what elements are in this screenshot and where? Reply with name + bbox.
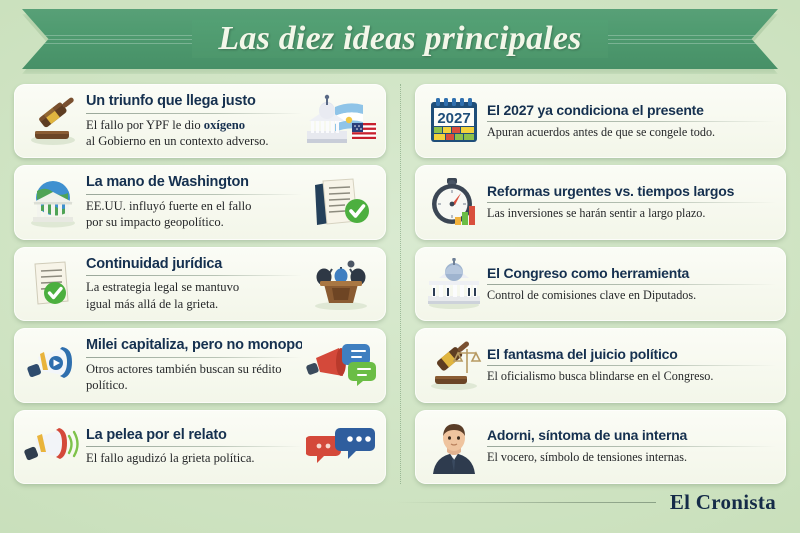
idea-card[interactable]: El Congreso como herramienta Control de … <box>415 247 786 321</box>
gavel-scales-icon <box>423 339 485 391</box>
headline-rule <box>86 357 302 358</box>
blurb-text-line2: por su impacto geopolítico. <box>86 215 224 229</box>
card-headline: Adorni, síntoma de una interna <box>487 427 776 443</box>
idea-card[interactable]: Adorni, síntoma de una interna El vocero… <box>415 410 786 484</box>
headline-rule <box>487 365 776 366</box>
left-column: Un triunfo que llega justo El fallo por … <box>0 84 400 484</box>
blurb-text: Las inversiones se harán sentir a largo … <box>487 206 705 220</box>
card-headline: El 2027 ya condiciona el presente <box>487 102 776 118</box>
card-body: El fantasma del juicio político El ofici… <box>485 346 778 385</box>
card-body: El Congreso como herramienta Control de … <box>485 265 778 304</box>
idea-card[interactable]: La pelea por el relato El fallo agudizó … <box>14 410 386 484</box>
headline-rule <box>86 446 302 447</box>
blurb-text: Apuran acuerdos antes de que se congele … <box>487 125 715 139</box>
headline-rule <box>487 202 776 203</box>
blurb-text: El oficialismo busca blindarse en el Con… <box>487 369 713 383</box>
blurb-text: Control de comisiones clave en Diputados… <box>487 288 696 302</box>
card-blurb: El oficialismo busca blindarse en el Con… <box>487 369 776 385</box>
idea-card[interactable]: Continuidad jurídica La estrategia legal… <box>14 247 386 321</box>
footer-divider <box>396 502 656 503</box>
calendar-year-label: 2027 <box>437 110 470 127</box>
title-ribbon: Las diez ideas principales <box>0 9 800 71</box>
card-headline: Un triunfo que llega justo <box>86 93 302 110</box>
idea-card[interactable]: 2027 El 2027 ya <box>415 84 786 158</box>
card-blurb: EE.UU. influyó fuerte en el fallo por su… <box>86 198 302 231</box>
card-headline: Milei capitaliza, pero no monopoliza <box>86 337 302 354</box>
infographic-poster: Las diez ideas principales <box>0 0 800 533</box>
blurb-text: La estrategia legal se mantuvo <box>86 280 239 294</box>
megaphone-chat-bubbles-icon <box>304 342 378 388</box>
blurb-text: El fallo por YPF le dio <box>86 118 204 132</box>
megaphone-red-icon <box>22 424 84 470</box>
brand-logo: El Cronista <box>670 490 776 515</box>
card-body: Adorni, síntoma de una interna El vocero… <box>485 427 778 466</box>
card-headline: La pelea por el relato <box>86 427 302 444</box>
blurb-text: Otros actores también buscan su rédito p… <box>86 362 282 392</box>
card-blurb: Apuran acuerdos antes de que se congele … <box>487 125 776 141</box>
card-headline: Reformas urgentes vs. tiempos largos <box>487 183 776 199</box>
card-body: Un triunfo que llega justo El fallo por … <box>84 93 304 149</box>
cards-area: Un triunfo que llega justo El fallo por … <box>0 84 800 484</box>
card-headline: La mano de Washington <box>86 174 302 191</box>
headline-rule <box>487 446 776 447</box>
card-blurb: Control de comisiones clave en Diputados… <box>487 288 776 304</box>
stopwatch-chart-icon <box>423 176 485 230</box>
headline-rule <box>86 275 302 276</box>
card-headline: Continuidad jurídica <box>86 256 302 273</box>
globe-bank-icon <box>22 177 84 229</box>
card-body: El 2027 ya condiciona el presente Apuran… <box>485 102 778 141</box>
card-body: La mano de Washington EE.UU. influyó fue… <box>84 174 304 230</box>
blurb-text: EE.UU. influyó fuerte en el fallo <box>86 199 251 213</box>
headline-rule <box>86 113 302 114</box>
calendar-2027-icon: 2027 <box>423 94 485 148</box>
headline-rule <box>86 194 302 195</box>
capitol-flags-icon <box>304 93 378 149</box>
card-blurb: El fallo por YPF le dio oxígeno al Gobie… <box>86 117 302 150</box>
congress-building-icon <box>423 258 485 310</box>
idea-card[interactable]: La mano de Washington EE.UU. influyó fue… <box>14 165 386 239</box>
idea-card[interactable]: Reformas urgentes vs. tiempos largos Las… <box>415 165 786 239</box>
document-check-icon <box>22 259 84 309</box>
ribbon-band: Las diez ideas principales <box>22 9 778 69</box>
card-body: Milei capitaliza, pero no monopoliza Otr… <box>84 337 304 393</box>
spokesperson-portrait-icon <box>423 420 485 474</box>
blurb-text: El fallo agudizó la grieta política. <box>86 451 255 465</box>
headline-rule <box>487 284 776 285</box>
card-headline: El fantasma del juicio político <box>487 346 776 362</box>
idea-card[interactable]: Un triunfo que llega justo El fallo por … <box>14 84 386 158</box>
megaphone-blue-icon <box>22 343 84 387</box>
gavel-icon <box>22 95 84 147</box>
right-column: 2027 El 2027 ya <box>400 84 800 484</box>
card-blurb: Las inversiones se harán sentir a largo … <box>487 206 776 222</box>
document-check-icon <box>304 175 378 231</box>
idea-card[interactable]: El fantasma del juicio político El ofici… <box>415 328 786 402</box>
card-blurb: El vocero, símbolo de tensiones internas… <box>487 450 776 466</box>
card-body: La pelea por el relato El fallo agudizó … <box>84 427 304 467</box>
blurb-emphasis: oxígeno <box>204 118 245 132</box>
card-headline: El Congreso como herramienta <box>487 265 776 281</box>
two-chat-bubbles-icon <box>304 424 378 470</box>
card-blurb: La estrategia legal se mantuvo igual más… <box>86 279 302 312</box>
headline-rule <box>487 121 776 122</box>
idea-card[interactable]: Milei capitaliza, pero no monopoliza Otr… <box>14 328 386 402</box>
card-blurb: El fallo agudizó la grieta política. <box>86 450 302 466</box>
blurb-text-line2: al Gobierno en un contexto adverso. <box>86 134 269 148</box>
footer: El Cronista <box>0 485 800 519</box>
blurb-text: El vocero, símbolo de tensiones internas… <box>487 450 687 464</box>
card-blurb: Otros actores también buscan su rédito p… <box>86 361 302 394</box>
card-body: Reformas urgentes vs. tiempos largos Las… <box>485 183 778 222</box>
page-title: Las diez ideas principales <box>192 20 607 58</box>
podium-microphones-icon <box>304 257 378 311</box>
blurb-text-line2: igual más allá de la grieta. <box>86 297 218 311</box>
card-body: Continuidad jurídica La estrategia legal… <box>84 256 304 312</box>
